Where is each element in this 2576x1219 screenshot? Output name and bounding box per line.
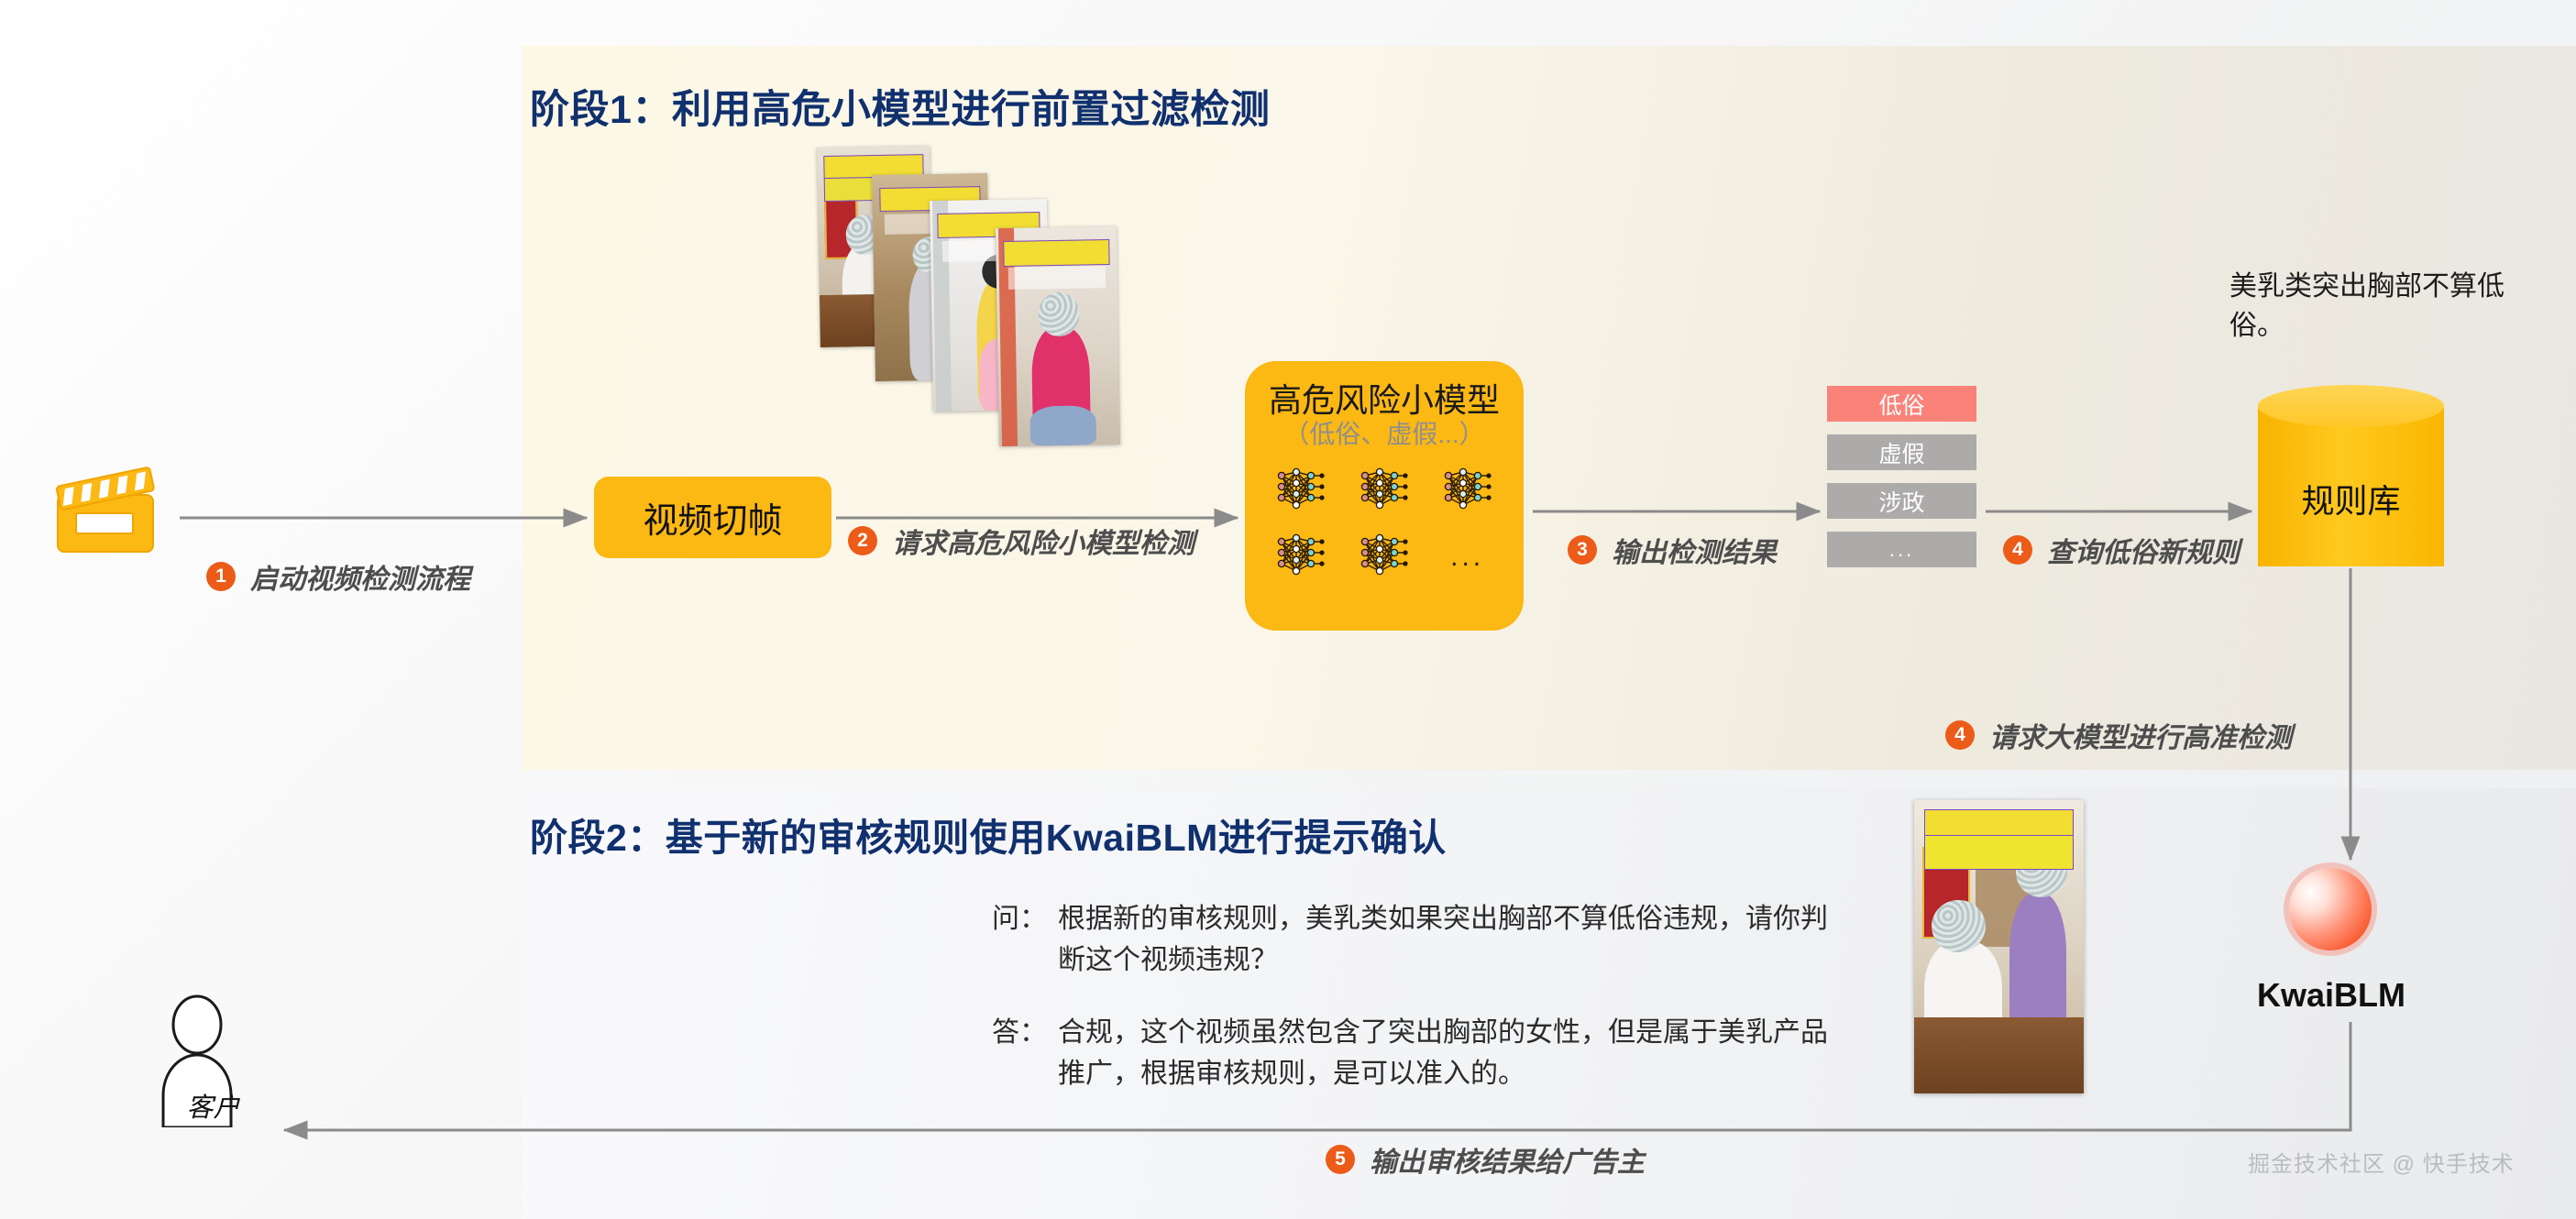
neural-network-icon — [1272, 465, 1329, 518]
nn-cell — [1346, 462, 1424, 521]
step-text: 请求高危风险小模型检测 — [892, 521, 1194, 561]
step-badge: 1 — [206, 562, 236, 591]
qa-question-text: 根据新的审核规则，美乳类如果突出胸部不算低俗违规，请你判断这个视频违规？ — [1058, 898, 1854, 981]
nn-cell — [1346, 528, 1424, 587]
reviewed-video-thumbnail — [1914, 800, 2084, 1093]
nn-cell — [1428, 462, 1506, 521]
qa-answer-text: 合规，这个视频虽然包含了突出胸部的女性，但是属于美乳产品推广，根据审核规则，是可… — [1058, 1012, 1854, 1094]
qa-question-key: 问： — [992, 898, 1058, 939]
nn-more-cell: ... — [1428, 528, 1506, 587]
step-1-label: 1 启动视频检测流程 — [206, 556, 470, 597]
high-risk-model-box[interactable]: 高危风险小模型 （低俗、虚假...） — [1245, 361, 1524, 631]
step-5-label: 5 输出审核结果给广告主 — [1326, 1139, 1645, 1180]
neural-network-icon — [1272, 531, 1329, 584]
step-text: 请求大模型进行高准检测 — [1989, 715, 2292, 755]
cylinder-top — [2258, 385, 2444, 427]
category-chip-false[interactable]: 虚假 — [1827, 434, 1976, 470]
step-badge: 2 — [848, 526, 877, 555]
model-box-title: 高危风险小模型 — [1269, 381, 1500, 419]
step-text: 查询低俗新规则 — [2047, 530, 2240, 570]
step-2-label: 2 请求高危风险小模型检测 — [848, 521, 1194, 561]
stage2-title: 阶段2：基于新的审核规则使用KwaiBLM进行提示确认 — [530, 807, 1447, 862]
step-4a-label: 4 查询低俗新规则 — [2003, 530, 2240, 570]
qa-question-row: 问： 根据新的审核规则，美乳类如果突出胸部不算低俗违规，请你判断这个视频违规？ — [992, 898, 1854, 981]
kwaiblm-sphere-icon[interactable] — [2289, 868, 2372, 950]
category-chip-more[interactable]: ... — [1827, 532, 1976, 567]
category-chip-political[interactable]: 涉政 — [1827, 483, 1976, 519]
rule-database-label: 规则库 — [2258, 475, 2444, 522]
qa-block: 问： 根据新的审核规则，美乳类如果突出胸部不算低俗违规，请你判断这个视频违规？ … — [992, 898, 1854, 1126]
step-text: 输出检测结果 — [1612, 530, 1777, 570]
neural-network-icon — [1356, 531, 1413, 584]
step-text: 启动视频检测流程 — [250, 556, 470, 597]
nn-more-label: ... — [1450, 552, 1484, 563]
neural-network-icon — [1356, 465, 1413, 518]
film-clapper-icon — [53, 466, 167, 555]
nn-cell — [1262, 528, 1340, 587]
qa-answer-row: 答： 合规，这个视频虽然包含了突出胸部的女性，但是属于美乳产品推广，根据审核规则… — [992, 1012, 1854, 1094]
step-badge: 4 — [2003, 535, 2032, 565]
step-badge: 5 — [1326, 1145, 1355, 1174]
step-4b-label: 4 请求大模型进行高准检测 — [1945, 715, 2292, 755]
video-thumbnail-stack-item — [996, 226, 1120, 446]
rule-database-cylinder[interactable]: 规则库 — [2258, 385, 2444, 566]
neural-network-icon — [1439, 465, 1496, 518]
video-frame-extraction-box[interactable]: 视频切帧 — [594, 477, 831, 558]
rule-note-text: 美乳类突出胸部不算低俗。 — [2229, 268, 2504, 346]
diagram-canvas: 阶段1：利用高危小模型进行前置过滤检测 阶段2：基于新的审核规则使用KwaiBL… — [0, 0, 2576, 1219]
nn-cell — [1262, 462, 1340, 521]
watermark: 掘金技术社区 @ 快手技术 — [2248, 1146, 2515, 1178]
model-box-subtitle: （低俗、虚假...） — [1283, 421, 1484, 449]
kwaiblm-label: KwaiBLM — [2228, 976, 2435, 1015]
step-badge: 3 — [1568, 535, 1597, 565]
step-badge: 4 — [1945, 720, 1975, 750]
step-text: 输出审核结果给广告主 — [1370, 1139, 1645, 1180]
neural-network-icon-grid: ... — [1262, 462, 1506, 587]
customer-label: 客户 — [160, 1086, 266, 1125]
stage1-title: 阶段1：利用高危小模型进行前置过滤检测 — [530, 78, 1270, 135]
step-3-label: 3 输出检测结果 — [1568, 530, 1777, 570]
qa-answer-key: 答： — [992, 1012, 1058, 1053]
category-chip-vulgar[interactable]: 低俗 — [1827, 386, 1976, 422]
